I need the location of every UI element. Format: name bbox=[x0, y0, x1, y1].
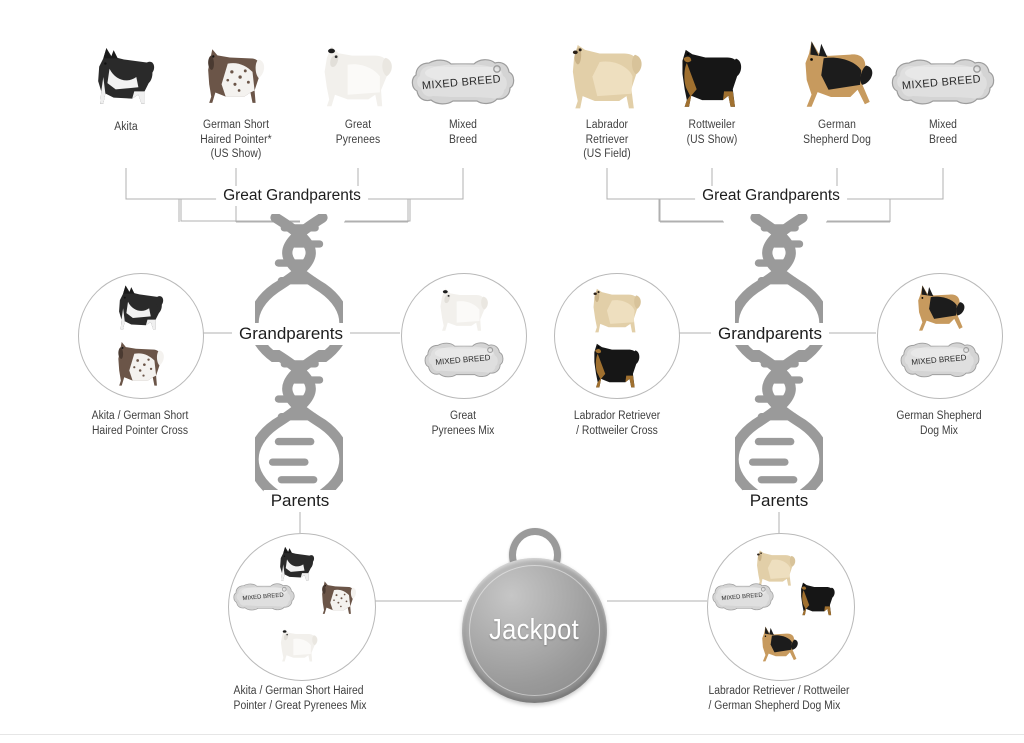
great-grandparent-great-pyrenees[interactable]: GreatPyrenees bbox=[306, 26, 410, 147]
level-label-great-grandparents-right: Great Grandparents bbox=[695, 186, 847, 206]
german-short-haired-pointer-dog-icon bbox=[315, 576, 363, 618]
mixed-breed-bone-tag-icon: MIXED BREED bbox=[422, 336, 506, 386]
grandparent-akita-gsp-cross[interactable] bbox=[78, 273, 204, 399]
level-label-grandparents-right: Grandparents bbox=[711, 323, 829, 345]
rottweiler-dog-icon bbox=[660, 26, 764, 112]
grandparent-label: Labrador Retriever/ Rottweiler Cross bbox=[574, 409, 660, 439]
great-grandparent-german-shepherd-dog[interactable]: GermanShepherd Dog bbox=[785, 26, 889, 147]
level-label-grandparents-left: Grandparents bbox=[232, 323, 350, 345]
dna-helix-icon bbox=[255, 350, 343, 498]
bottom-divider bbox=[0, 734, 1024, 735]
great-grandparent-akita[interactable]: Akita bbox=[74, 28, 178, 135]
jackpot-result-tag[interactable]: Jackpot bbox=[462, 528, 607, 713]
tag-disc: Jackpot bbox=[462, 558, 607, 703]
great-grandparent-label: Akita bbox=[79, 120, 173, 135]
great-grandparent-label: MixedBreed bbox=[416, 118, 510, 147]
grandparent-great-pyrenees-mix[interactable]: MIXED BREED bbox=[401, 273, 527, 399]
mixed-breed-bone-tag-icon: MIXED BREED bbox=[710, 578, 776, 618]
labrador-retriever-dog-icon bbox=[581, 282, 653, 334]
great-pyrenees-dog-icon bbox=[306, 26, 410, 112]
great-grandparent-german-short-haired-pointer[interactable]: German ShortHaired Pointer*(US Show) bbox=[184, 26, 288, 162]
akita-dog-icon bbox=[74, 28, 178, 114]
level-label-parents-right: Parents bbox=[743, 490, 816, 512]
german-shepherd-dog-icon bbox=[785, 26, 889, 112]
rottweiler-dog-icon bbox=[581, 336, 653, 390]
rottweiler-dog-icon bbox=[794, 576, 842, 618]
german-short-haired-pointer-dog-icon bbox=[105, 336, 177, 390]
grandparent-label: GreatPyrenees Mix bbox=[432, 409, 495, 439]
dna-helix-icon bbox=[735, 350, 823, 498]
great-grandparent-label: GreatPyrenees bbox=[311, 118, 405, 147]
level-label-parents-left: Parents bbox=[264, 490, 337, 512]
grandparent-label: Akita / German ShortHaired Pointer Cross bbox=[92, 409, 189, 439]
jackpot-name: Jackpot bbox=[490, 614, 580, 647]
parent-label: Labrador Retriever / Rottweiler/ German … bbox=[709, 684, 850, 714]
grandparent-label: German ShepherdDog Mix bbox=[896, 409, 981, 439]
mixed-breed-bone-tag-icon: MIXED BREED bbox=[898, 336, 982, 386]
level-label-great-grandparents-left: Great Grandparents bbox=[216, 186, 368, 206]
mixed-breed-bone-tag-icon: MIXED BREED bbox=[891, 26, 995, 112]
mixed-breed-bone-tag-icon: MIXED BREED bbox=[231, 578, 297, 618]
grandparent-german-shepherd-mix[interactable]: MIXED BREED bbox=[877, 273, 1003, 399]
great-grandparent-label: GermanShepherd Dog bbox=[790, 118, 884, 147]
great-pyrenees-dog-icon bbox=[428, 282, 500, 334]
parent-label: Akita / German Short HairedPointer / Gre… bbox=[234, 684, 367, 714]
great-grandparent-label: Rottweiler(US Show) bbox=[665, 118, 759, 147]
great-grandparent-label: LabradorRetriever(US Field) bbox=[560, 118, 654, 162]
great-grandparent-mixed-breed-1[interactable]: MIXED BREED MixedBreed bbox=[411, 26, 515, 147]
german-shepherd-dog-icon bbox=[902, 282, 978, 334]
german-short-haired-pointer-dog-icon bbox=[184, 26, 288, 112]
great-grandparent-rottweiler[interactable]: Rottweiler(US Show) bbox=[660, 26, 764, 147]
great-grandparent-label: German ShortHaired Pointer*(US Show) bbox=[189, 118, 283, 162]
grandparent-labrador-rottweiler-cross[interactable] bbox=[554, 273, 680, 399]
parent-right-circle[interactable]: MIXED BREED bbox=[707, 533, 855, 681]
german-shepherd-dog-icon bbox=[752, 622, 806, 666]
great-grandparent-labrador-retriever[interactable]: LabradorRetriever(US Field) bbox=[555, 26, 659, 162]
pedigree-diagram: Akita German ShortHaired Pointer*(US Sho… bbox=[0, 0, 1024, 743]
great-grandparent-label: MixedBreed bbox=[896, 118, 990, 147]
parent-left-circle[interactable]: MIXED BREED bbox=[228, 533, 376, 681]
great-pyrenees-dog-icon bbox=[273, 622, 325, 666]
labrador-retriever-dog-icon bbox=[555, 26, 659, 112]
mixed-breed-bone-tag-icon: MIXED BREED bbox=[411, 26, 515, 112]
great-grandparent-mixed-breed-2[interactable]: MIXED BREED MixedBreed bbox=[891, 26, 995, 147]
akita-dog-icon bbox=[105, 282, 177, 336]
